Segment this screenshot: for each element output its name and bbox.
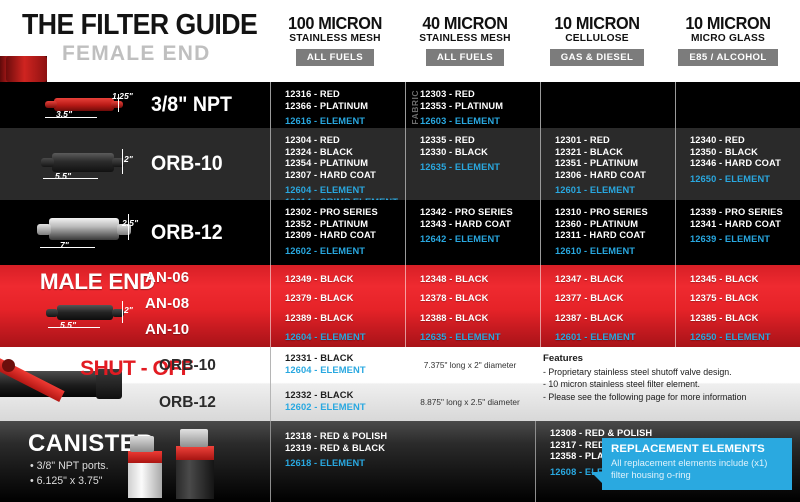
cell-100-micron: 12349 - BLACK 12379 - BLACK 12389 - BLAC… xyxy=(270,265,405,347)
canister-image-black xyxy=(176,459,214,499)
column-header-10-micron-micro-glass: 10 MICRON MICRO GLASS E85 / ALCOHOL xyxy=(663,14,793,66)
cell-10-micron-cellulose xyxy=(540,82,675,128)
part-number: 12388 - BLACK xyxy=(420,308,538,327)
part-number: 12335 - RED xyxy=(420,135,538,147)
section-subtitle-female-end: FEMALE END xyxy=(62,42,211,66)
column-material: MICRO GLASS xyxy=(663,33,793,45)
dim-length-label: 5.5" xyxy=(55,171,71,181)
cell-40-micron: 12342 - PRO SERIES 12343 - HARD COAT 126… xyxy=(405,200,540,265)
shutoff-section: SHUT - OFF ORB-10 ORB-12 12331 - BLACK 1… xyxy=(0,347,800,421)
an-size-label: AN-08 xyxy=(145,295,189,312)
part-number: 12349 - BLACK xyxy=(285,269,403,288)
cell-10-micron-cellulose: 12310 - PRO SERIES 12360 - PLATINUM 1231… xyxy=(540,200,675,265)
dim-length-label: 5.5" xyxy=(60,320,76,330)
column-fuel-chip: ALL FUELS xyxy=(296,49,374,66)
shutoff-size-label: ORB-10 xyxy=(159,357,216,374)
cell-40-micron: 12348 - BLACK 12378 - BLACK 12388 - BLAC… xyxy=(405,265,540,347)
cell-10-micron-micro-glass: 12345 - BLACK 12375 - BLACK 12385 - BLAC… xyxy=(675,265,800,347)
cell-100-micron: 12318 - RED & POLISH 12319 - RED & BLACK… xyxy=(270,421,405,502)
part-number: 12379 - BLACK xyxy=(285,288,403,307)
part-number-element: 12635 - ELEMENT xyxy=(420,162,538,174)
column-material: CELLULOSE xyxy=(532,33,662,45)
cell-10-micron-cellulose: 12301 - RED 12321 - BLACK 12351 - PLATIN… xyxy=(540,128,675,200)
part-number: 12316 - RED xyxy=(285,89,403,101)
part-number: 12360 - PLATINUM xyxy=(555,219,673,231)
part-number: 12385 - BLACK xyxy=(690,308,800,327)
part-number: 12319 - RED & BLACK xyxy=(285,443,405,455)
filter-end-left xyxy=(37,224,51,235)
part-number-element: 12604 - ELEMENT xyxy=(285,364,405,376)
shutoff-lever-pivot xyxy=(2,359,15,372)
part-number: 12346 - HARD COAT xyxy=(690,158,800,170)
cell-40-micron xyxy=(405,421,535,502)
column-material: STAINLESS MESH xyxy=(400,33,530,45)
column-header-100-micron: 100 MICRON STAINLESS MESH ALL FUELS xyxy=(270,14,400,66)
filter-body-image xyxy=(49,218,119,240)
an-size-row: AN-08 xyxy=(145,291,270,317)
part-number: 12330 - BLACK xyxy=(420,147,538,159)
product-image-cell: 5.5" 2" xyxy=(0,128,145,200)
cell-10-micron-micro-glass: 12340 - RED 12350 - BLACK 12346 - HARD C… xyxy=(675,128,800,200)
shutoff-part-cell: 12332 - BLACK 12602 - ELEMENT xyxy=(271,384,405,421)
part-number: 12324 - BLACK xyxy=(285,147,403,159)
column-micron: 40 MICRON xyxy=(405,14,526,32)
part-number: 12366 - PLATINUM xyxy=(285,101,403,113)
shutoff-size-list: ORB-10 ORB-12 xyxy=(145,347,270,421)
row-label: ORB-12 xyxy=(151,221,223,245)
cell-100-micron: 12316 - RED 12366 - PLATINUM 12616 - ELE… xyxy=(270,82,405,128)
cell-100-micron: 12304 - RED 12324 - BLACK 12354 - PLATIN… xyxy=(270,128,405,200)
part-number: 12378 - BLACK xyxy=(420,288,538,307)
part-number: 12351 - PLATINUM xyxy=(555,158,673,170)
cell-10-micron-micro-glass xyxy=(675,82,800,128)
canister-cap-red xyxy=(176,446,214,460)
part-number: 12375 - BLACK xyxy=(690,288,800,307)
part-number-element: 12602 - ELEMENT xyxy=(285,401,405,413)
row-label-cell: ORB-10 xyxy=(145,128,270,200)
part-number: 12353 - PLATINUM xyxy=(420,101,538,113)
part-number: 12354 - PLATINUM xyxy=(285,158,403,170)
cell-10-micron-micro-glass: 12339 - PRO SERIES 12341 - HARD COAT 126… xyxy=(675,200,800,265)
part-number-element: 12601 - ELEMENT xyxy=(555,327,673,346)
part-number-element: 12642 - ELEMENT xyxy=(420,234,538,246)
product-image-cell: 7" 2.5" xyxy=(0,200,145,265)
part-number: 12306 - HARD COAT xyxy=(555,170,673,182)
column-header-40-micron: 40 MICRON STAINLESS MESH ALL FUELS xyxy=(400,14,530,66)
row-label: 3/8" NPT xyxy=(151,93,232,117)
male-end-section: 5.5" 2" MALE END AN-06 AN-08 AN-10 xyxy=(0,265,800,347)
an-size-row: AN-06 xyxy=(145,265,270,291)
filter-body-image xyxy=(52,153,114,172)
features-title: Features xyxy=(543,353,800,364)
filter-end-left xyxy=(46,309,58,317)
male-end-title: MALE END xyxy=(5,269,155,295)
canister-bracket xyxy=(130,436,154,452)
canister-bracket xyxy=(180,429,208,447)
row-label-cell: 3/8" NPT xyxy=(145,82,270,128)
part-number: 12307 - HARD COAT xyxy=(285,170,403,182)
cell-100-micron: 12302 - PRO SERIES 12352 - PLATINUM 1230… xyxy=(270,200,405,265)
part-number: 12318 - RED & POLISH xyxy=(285,431,405,443)
filter-body-image xyxy=(57,305,113,320)
part-number: 12310 - PRO SERIES xyxy=(555,207,673,219)
filter-end-right xyxy=(111,101,123,108)
part-number: 12348 - BLACK xyxy=(420,269,538,288)
table-row: 5.5" 2" ORB-10 12304 - RED 12324 - BLACK… xyxy=(0,128,800,200)
part-number: 12341 - HARD COAT xyxy=(690,219,800,231)
cell-40-micron: FABRIC 12303 - RED 12353 - PLATINUM 1260… xyxy=(405,82,540,128)
shutoff-size-label: ORB-12 xyxy=(159,394,216,411)
part-number: 12331 - BLACK xyxy=(285,352,405,364)
dim-line-diameter xyxy=(122,301,123,323)
shutoff-dimension-column: 7.375" long x 2" diameter 8.875" long x … xyxy=(405,347,535,421)
part-number-element: 12604 - ELEMENT xyxy=(285,327,403,346)
canister-image-polish xyxy=(128,462,162,498)
row-label: ORB-10 xyxy=(151,152,223,176)
canister-bullet: • 3/8" NPT ports. xyxy=(30,459,109,474)
cell-10-micron-cellulose: 12347 - BLACK 12377 - BLACK 12387 - BLAC… xyxy=(540,265,675,347)
canister-info: CANISTER • 3/8" NPT ports. • 6.125" x 3.… xyxy=(0,421,270,502)
fabric-tag: FABRIC xyxy=(410,90,420,125)
part-number: 12303 - RED xyxy=(420,89,538,101)
row-label-cell: ORB-12 xyxy=(145,200,270,265)
dim-diameter-label: 1.25" xyxy=(112,91,133,101)
column-micron: 10 MICRON xyxy=(668,14,789,32)
female-end-table: 3.5" 1.25" 3/8" NPT 12316 - RED 12366 - … xyxy=(0,82,800,502)
dim-diameter-label: 2" xyxy=(124,154,133,164)
header: THE FILTER GUIDE FEMALE END 100 MICRON S… xyxy=(0,0,800,82)
part-number: 12311 - HARD COAT xyxy=(555,230,673,242)
part-number-element: 12616 - ELEMENT xyxy=(285,116,403,128)
an-size-label: AN-10 xyxy=(145,321,189,338)
part-number-element: 12618 - ELEMENT xyxy=(285,458,405,470)
page-title: THE FILTER GUIDE xyxy=(22,9,257,42)
part-number-element: 12601 - ELEMENT xyxy=(555,185,673,197)
dim-line-diameter xyxy=(122,149,123,174)
table-row: 3.5" 1.25" 3/8" NPT 12316 - RED 12366 - … xyxy=(0,82,800,128)
canister-cap-red xyxy=(128,451,162,463)
column-fuel-chip: GAS & DIESEL xyxy=(550,49,645,66)
canister-bullets: • 3/8" NPT ports. • 6.125" x 3.75" xyxy=(30,459,109,489)
dim-length-label: 7" xyxy=(60,240,69,250)
part-number-element: 12635 - ELEMENT xyxy=(420,327,538,346)
part-number-element: 12602 - ELEMENT xyxy=(285,246,403,258)
shutoff-part-cell: 12331 - BLACK 12604 - ELEMENT xyxy=(271,347,405,384)
part-number-element: 12650 - ELEMENT xyxy=(690,327,800,346)
shutoff-part-column: 12331 - BLACK 12604 - ELEMENT 12332 - BL… xyxy=(270,347,405,421)
canister-bullet: • 6.125" x 3.75" xyxy=(30,474,109,489)
an-size-list: AN-06 AN-08 AN-10 xyxy=(145,265,270,343)
shutoff-label-column: SHUT - OFF ORB-10 ORB-12 xyxy=(145,347,270,421)
shutoff-dimension: 8.875" long x 2.5" diameter xyxy=(405,384,535,421)
callout-body: All replacement elements include (x1) fi… xyxy=(611,457,784,481)
part-number: 12340 - RED xyxy=(690,135,800,147)
part-number-element: 12604 - ELEMENT xyxy=(285,185,403,197)
part-number: 12339 - PRO SERIES xyxy=(690,207,800,219)
callout-title: REPLACEMENT ELEMENTS xyxy=(611,443,784,455)
part-number: 12321 - BLACK xyxy=(555,147,673,159)
feature-item: - Proprietary stainless steel shutoff va… xyxy=(543,366,800,378)
part-number: 12377 - BLACK xyxy=(555,288,673,307)
part-number: 12347 - BLACK xyxy=(555,269,673,288)
column-fuel-chip: ALL FUELS xyxy=(426,49,504,66)
column-header-10-micron-cellulose: 10 MICRON CELLULOSE GAS & DIESEL xyxy=(532,14,662,66)
dim-diameter-label: 2" xyxy=(124,305,133,315)
part-number: 12342 - PRO SERIES xyxy=(420,207,538,219)
shutoff-size-row: ORB-10 xyxy=(145,347,270,384)
filter-guide-sheet: THE FILTER GUIDE FEMALE END 100 MICRON S… xyxy=(0,0,800,499)
part-number: 12389 - BLACK xyxy=(285,308,403,327)
part-number: 12301 - RED xyxy=(555,135,673,147)
part-number: 12309 - HARD COAT xyxy=(285,230,403,242)
part-number-element: 12639 - ELEMENT xyxy=(690,234,800,246)
column-micron: 10 MICRON xyxy=(537,14,658,32)
part-number-element: 12610 - ELEMENT xyxy=(555,246,673,258)
part-number-element: 12650 - ELEMENT xyxy=(690,174,800,186)
dim-length-label: 3.5" xyxy=(56,109,72,119)
part-number: 12352 - PLATINUM xyxy=(285,219,403,231)
filter-end-left xyxy=(45,101,57,108)
replacement-elements-callout: REPLACEMENT ELEMENTS All replacement ele… xyxy=(602,438,792,490)
red-filter-tube-cap xyxy=(6,56,47,82)
part-number: 12343 - HARD COAT xyxy=(420,219,538,231)
part-number: 12304 - RED xyxy=(285,135,403,147)
product-image-cell: 3.5" 1.25" xyxy=(0,82,145,128)
dim-diameter-label: 2.5" xyxy=(122,218,138,228)
feature-item: - 10 micron stainless steel filter eleme… xyxy=(543,378,800,390)
column-material: STAINLESS MESH xyxy=(270,33,400,45)
part-number: 12350 - BLACK xyxy=(690,147,800,159)
features-block: Features - Proprietary stainless steel s… xyxy=(535,347,800,421)
part-number-element: 12603 - ELEMENT xyxy=(420,116,538,128)
part-number: 12302 - PRO SERIES xyxy=(285,207,403,219)
callout-area: REPLACEMENT ELEMENTS All replacement ele… xyxy=(670,421,800,502)
male-end-label-column: MALE END AN-06 AN-08 AN-10 xyxy=(145,265,270,347)
canister-section: CANISTER • 3/8" NPT ports. • 6.125" x 3.… xyxy=(0,421,800,502)
column-fuel-chip: E85 / ALCOHOL xyxy=(678,49,777,66)
part-number: 12387 - BLACK xyxy=(555,308,673,327)
column-micron: 100 MICRON xyxy=(275,14,396,32)
an-size-row: AN-10 xyxy=(145,317,270,343)
shutoff-dimension: 7.375" long x 2" diameter xyxy=(405,347,535,384)
part-number: 12332 - BLACK xyxy=(285,389,405,401)
part-number: 12345 - BLACK xyxy=(690,269,800,288)
table-row: 7" 2.5" ORB-12 12302 - PRO SERIES 12352 … xyxy=(0,200,800,265)
feature-item: - Please see the following page for more… xyxy=(543,391,800,403)
filter-end-left xyxy=(41,158,54,167)
shutoff-size-row: ORB-12 xyxy=(145,384,270,421)
an-size-label: AN-06 xyxy=(145,269,189,286)
cell-40-micron: 12335 - RED 12330 - BLACK 12635 - ELEMEN… xyxy=(405,128,540,200)
